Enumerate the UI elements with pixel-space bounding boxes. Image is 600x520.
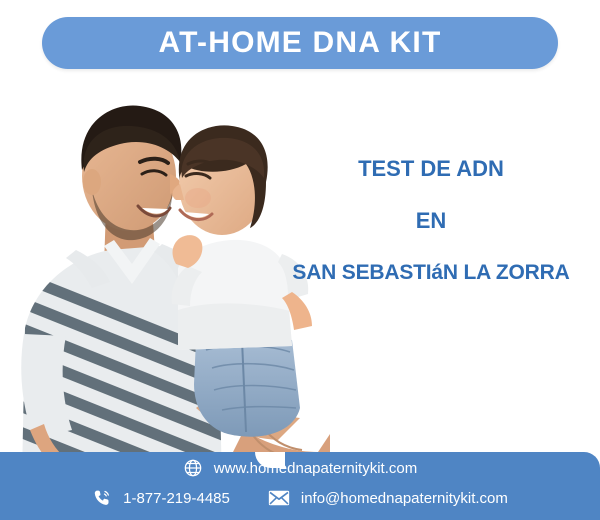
- poster-canvas: AT-HOME DNA KIT: [0, 0, 600, 520]
- website-text: www.homednapaternitykit.com: [214, 461, 417, 476]
- email-contact[interactable]: info@homednapaternitykit.com: [268, 489, 508, 507]
- headline-preposition: EN: [262, 210, 600, 232]
- headline-location: SAN SEBASTIáN LA ZORRA: [262, 262, 600, 283]
- footer-contact-row: 1-877-219-4485 info@homednapaternitykit.…: [0, 488, 600, 508]
- headline-service: TEST DE ADN: [262, 158, 600, 180]
- headline-block: TEST DE ADN EN SAN SEBASTIáN LA ZORRA: [262, 158, 600, 283]
- phone-text: 1-877-219-4485: [123, 491, 230, 506]
- poster-title: AT-HOME DNA KIT: [159, 28, 442, 58]
- footer-website-row: www.homednapaternitykit.com: [0, 458, 600, 478]
- phone-icon: [92, 488, 112, 508]
- phone-contact[interactable]: 1-877-219-4485: [92, 488, 230, 508]
- envelope-icon: [268, 489, 290, 507]
- email-text: info@homednapaternitykit.com: [301, 491, 508, 506]
- title-banner: AT-HOME DNA KIT: [42, 17, 558, 69]
- website-contact[interactable]: www.homednapaternitykit.com: [183, 458, 417, 478]
- globe-icon: [183, 458, 203, 478]
